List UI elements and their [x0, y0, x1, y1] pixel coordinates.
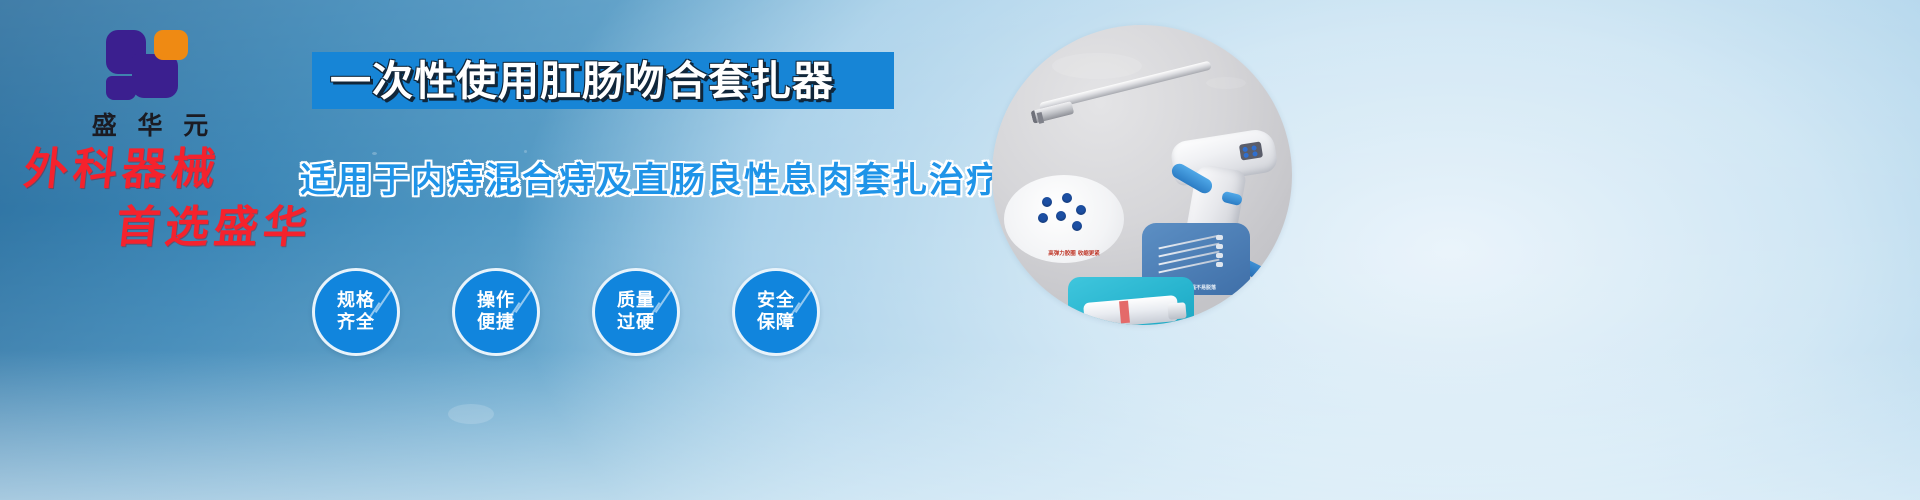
badge-line-2: 保障	[757, 312, 795, 334]
sparkle-icon	[448, 404, 494, 424]
inset-device-tip	[1167, 302, 1186, 320]
badge-line-2: 便捷	[477, 312, 515, 334]
badge-line-2: 过硬	[617, 312, 655, 334]
badge-line-1: 规格	[337, 290, 375, 312]
sparkle-icon	[524, 150, 527, 153]
sparkle-icon	[372, 152, 377, 155]
inset-device-body	[1083, 295, 1179, 325]
feature-badge[interactable]: 安全 保障	[732, 268, 820, 356]
brand-logo: 盛 华 元	[62, 28, 238, 142]
background-bottom-glow	[0, 350, 1920, 500]
device-control-panel	[1239, 141, 1263, 160]
badge-line-1: 质量	[617, 290, 655, 312]
feature-badge[interactable]: 操作 便捷	[452, 268, 540, 356]
badge-line-1: 安全	[757, 290, 795, 312]
product-photo: 高弹力胶圈 收缩更紧 活动力强不易脱落	[992, 25, 1292, 325]
company-name: 盛 华 元	[62, 106, 238, 142]
photo-highlight	[1206, 77, 1246, 89]
slogan-line-2: 首选盛华	[114, 206, 351, 250]
page-title: 一次性使用肛肠吻合套扎器	[330, 56, 890, 106]
badge-line-1: 操作	[477, 290, 515, 312]
inset-photo-device	[1068, 277, 1194, 325]
slogan-calligraphy: 外科器械 首选盛华	[18, 148, 348, 250]
feature-badge-label: 质量 过硬	[595, 271, 677, 353]
feature-badge[interactable]: 质量 过硬	[592, 268, 680, 356]
feature-badge-label: 规格 齐全	[315, 271, 397, 353]
sheng-hua-yuan-logo-icon	[102, 28, 198, 100]
inset-rings-caption: 高弹力胶圈 收缩更紧	[1026, 249, 1122, 257]
feature-badge-label: 安全 保障	[735, 271, 817, 353]
inset-photo-rings: 高弹力胶圈 收缩更紧	[1004, 175, 1124, 263]
badge-line-2: 齐全	[337, 312, 375, 334]
feature-badge[interactable]: 规格 齐全	[312, 268, 400, 356]
feature-badge-label: 操作 便捷	[455, 271, 537, 353]
promo-banner: 盛 华 元 外科器械 首选盛华 一次性使用肛肠吻合套扎器 适用于内痔混合痔及直肠…	[0, 0, 1920, 500]
inset-device-band	[1119, 301, 1130, 324]
page-subtitle: 适用于内痔混合痔及直肠良性息肉套扎治疗	[300, 160, 1003, 202]
photo-highlight	[1052, 53, 1142, 79]
